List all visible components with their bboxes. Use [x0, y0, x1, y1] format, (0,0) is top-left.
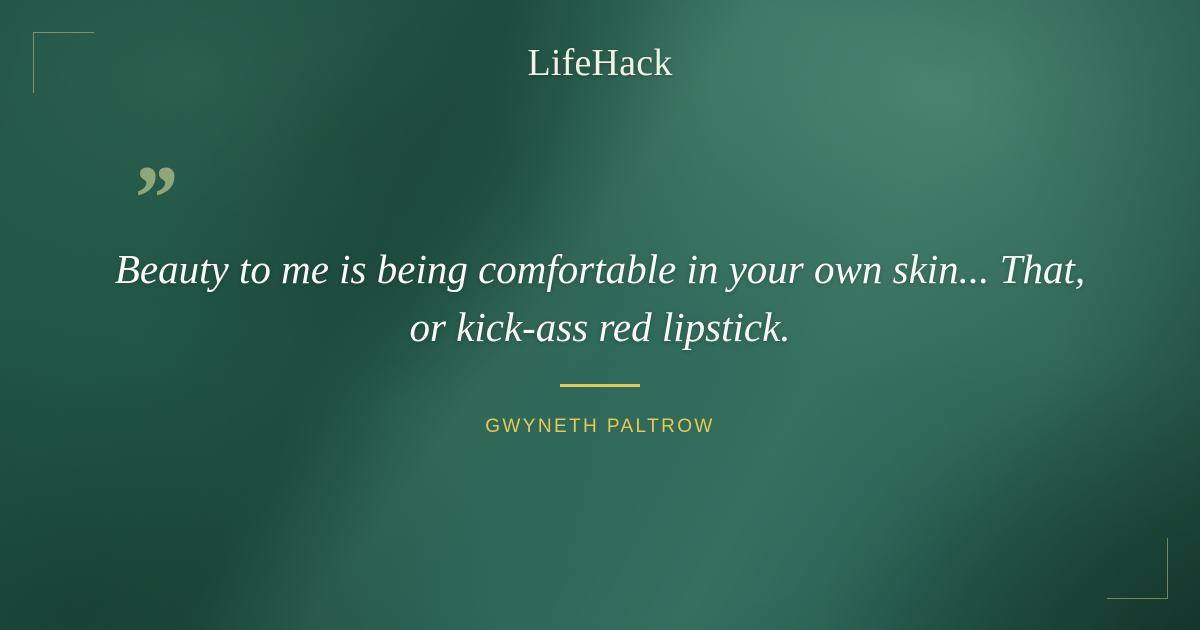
lifehack-logo: LifeHack	[0, 41, 1200, 85]
quote-line-2: or kick-ass red lipstick.	[409, 304, 790, 350]
quote-text: Beauty to me is being comfortable in you…	[95, 240, 1105, 356]
quote-author: GWYNETH PALTROW	[0, 415, 1200, 439]
quote-card: LifeHack ” Beauty to me is being comfort…	[0, 0, 1200, 630]
quotation-mark-icon: ”	[130, 152, 176, 244]
quote-line-1: Beauty to me is being comfortable in you…	[115, 246, 1085, 292]
gold-divider	[560, 384, 640, 387]
corner-bracket-bottom-right-icon	[1107, 538, 1168, 599]
